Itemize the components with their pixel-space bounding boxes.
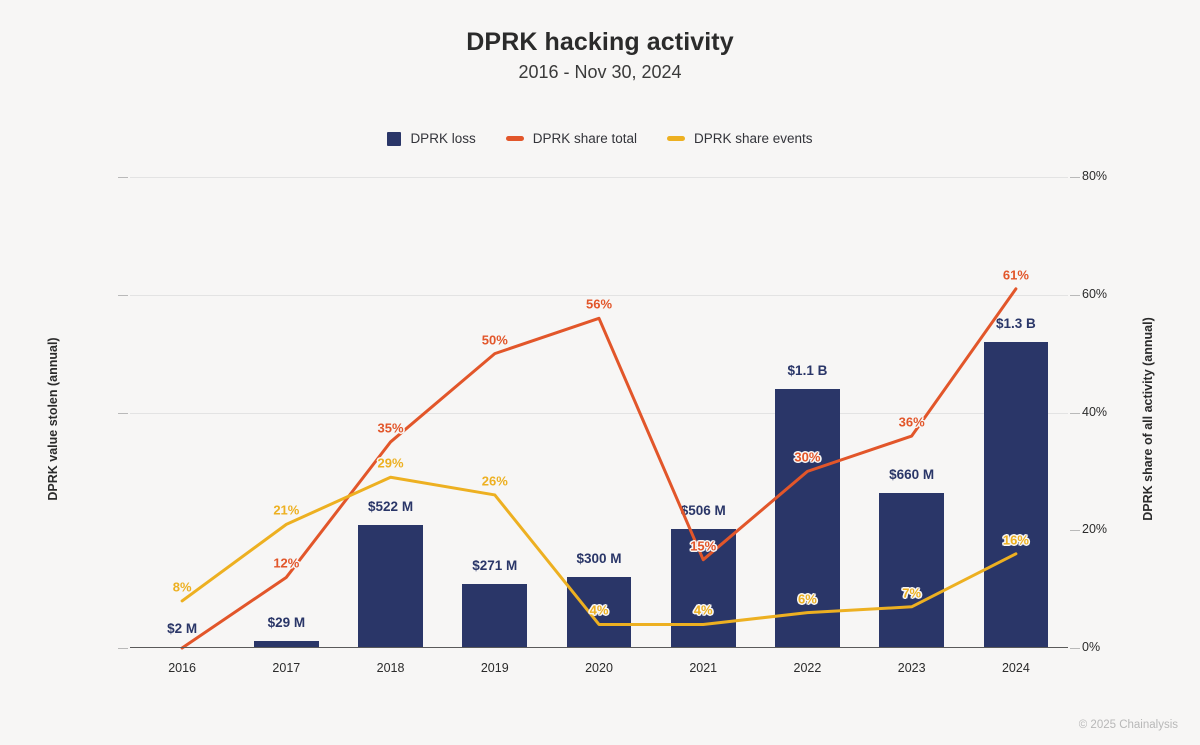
legend-item-2[interactable]: DPRK share events <box>667 131 813 146</box>
y2-tick-mark <box>1070 295 1080 296</box>
legend-label: DPRK share total <box>533 131 637 146</box>
bar-2019[interactable] <box>462 584 527 648</box>
gridline-y <box>130 177 1068 178</box>
point-label-dprk-share-events-2018: 29% <box>378 456 404 471</box>
copyright-watermark: © 2025 Chainalysis <box>1079 719 1178 731</box>
bar-value-label-2018: $522 M <box>368 499 413 514</box>
y2-tick-mark <box>1070 648 1080 649</box>
bar-value-label-2023: $660 M <box>889 467 934 482</box>
legend-swatch-line-icon <box>506 136 524 141</box>
y2-tick-mark <box>1070 413 1080 414</box>
y2-tick-label-2: 40% <box>1082 405 1152 419</box>
gridline-y <box>130 413 1068 414</box>
bar-value-label-2020: $300 M <box>576 551 621 566</box>
y2-tick-label-3: 20% <box>1082 522 1152 536</box>
bar-value-label-2017: $29 M <box>268 615 306 630</box>
point-label-dprk-share-total-2023: 36% <box>899 415 925 430</box>
point-label-dprk-share-events-2022: 6% <box>798 591 817 606</box>
bar-2018[interactable] <box>358 525 423 648</box>
bar-2024[interactable] <box>984 342 1049 648</box>
point-label-dprk-share-events-2024: 16% <box>1003 532 1029 547</box>
y2-tick-mark <box>1070 177 1080 178</box>
x-axis-label-2024: 2024 <box>1002 661 1030 675</box>
legend-item-1[interactable]: DPRK share total <box>506 131 637 146</box>
point-label-dprk-share-events-2016: 8% <box>173 579 192 594</box>
point-label-dprk-share-events-2021: 4% <box>694 603 713 618</box>
point-label-dprk-share-events-2017: 21% <box>273 503 299 518</box>
point-label-dprk-share-total-2018: 35% <box>378 420 404 435</box>
bar-2022[interactable] <box>775 389 840 648</box>
bar-value-label-2024: $1.3 B <box>996 316 1036 331</box>
y2-axis-title: DPRK share of all activity (annual) <box>1141 309 1155 529</box>
point-label-dprk-share-total-2017: 12% <box>273 556 299 571</box>
plot-area: $2B$1B$1B$0B80%60%40%20%0% $2 M$29 M$522… <box>130 177 1068 648</box>
point-label-dprk-share-total-2024: 61% <box>1003 267 1029 282</box>
y2-tick-label-0: 80% <box>1082 169 1152 183</box>
x-axis-label-2018: 2018 <box>377 661 405 675</box>
legend-item-0[interactable]: DPRK loss <box>387 131 475 146</box>
y2-tick-label-4: 0% <box>1082 640 1152 654</box>
x-axis-label-2023: 2023 <box>898 661 926 675</box>
legend-swatch-line-icon <box>667 136 685 141</box>
y-tick-mark <box>118 413 128 414</box>
bar-value-label-2016: $2 M <box>167 621 197 636</box>
point-label-dprk-share-total-2022: 30% <box>794 450 820 465</box>
y-tick-mark <box>118 295 128 296</box>
x-axis-label-2021: 2021 <box>689 661 717 675</box>
bar-2023[interactable] <box>879 493 944 648</box>
page-title: DPRK hacking activity <box>0 28 1200 57</box>
point-label-dprk-share-events-2020: 4% <box>590 603 609 618</box>
point-label-dprk-share-events-2023: 7% <box>902 585 921 600</box>
point-label-dprk-share-events-2019: 26% <box>482 473 508 488</box>
point-label-dprk-share-total-2021: 15% <box>690 538 716 553</box>
x-axis-label-2017: 2017 <box>272 661 300 675</box>
x-axis-line <box>130 647 1068 649</box>
x-axis-label-2020: 2020 <box>585 661 613 675</box>
bar-value-label-2021: $506 M <box>681 503 726 518</box>
legend-label: DPRK share events <box>694 131 813 146</box>
x-axis-label-2022: 2022 <box>794 661 822 675</box>
y2-tick-mark <box>1070 530 1080 531</box>
y-tick-mark <box>118 648 128 649</box>
chart-legend: DPRK lossDPRK share totalDPRK share even… <box>0 131 1200 146</box>
point-label-dprk-share-total-2020: 56% <box>586 297 612 312</box>
gridline-y <box>130 295 1068 296</box>
y-axis-title: DPRK value stolen (annual) <box>46 319 60 519</box>
bar-value-label-2019: $271 M <box>472 558 517 573</box>
legend-label: DPRK loss <box>410 131 475 146</box>
x-axis-label-2016: 2016 <box>168 661 196 675</box>
chart-subtitle: 2016 - Nov 30, 2024 <box>0 62 1200 83</box>
bar-value-label-2022: $1.1 B <box>788 363 828 378</box>
chart-container: DPRK hacking activity 2016 - Nov 30, 202… <box>0 0 1200 745</box>
y2-tick-label-1: 60% <box>1082 287 1152 301</box>
legend-swatch-square-icon <box>387 132 401 146</box>
x-axis-label-2019: 2019 <box>481 661 509 675</box>
y-tick-mark <box>118 177 128 178</box>
point-label-dprk-share-total-2019: 50% <box>482 332 508 347</box>
